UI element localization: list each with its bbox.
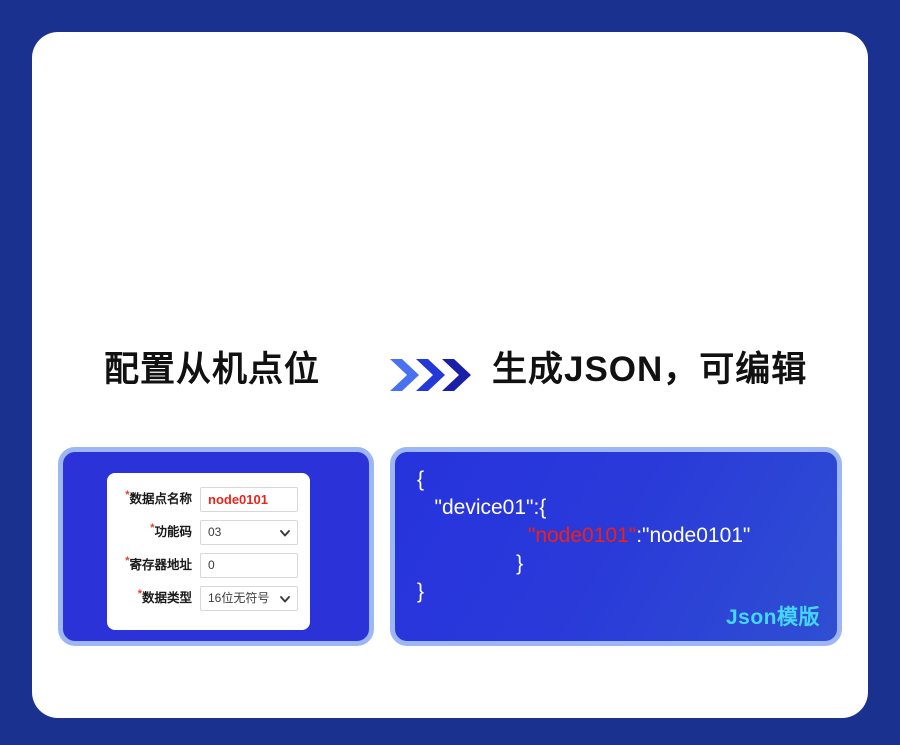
json-line-open-brace: { — [417, 466, 821, 494]
register-address-value: 0 — [208, 559, 215, 571]
headings-row: 配置从机点位 生成JSON，可编辑 — [0, 348, 900, 418]
json-node-key: "node0101" — [528, 524, 636, 547]
data-type-select[interactable]: 16位无符号 — [200, 586, 298, 611]
form-row: *功能码 03 — [116, 517, 298, 547]
register-address-label-text: 寄存器地址 — [129, 558, 192, 572]
form-row: *数据点名称 node0101 — [116, 484, 298, 514]
datapoint-name-input[interactable]: node0101 — [200, 487, 298, 512]
json-indent — [417, 524, 528, 547]
json-template-watermark: Json模版 — [726, 601, 820, 631]
register-address-label: *寄存器地址 — [116, 559, 200, 572]
function-code-value: 03 — [208, 526, 221, 538]
json-line-device-key: "device01":{ — [417, 494, 821, 522]
function-code-label: *功能码 — [116, 526, 200, 539]
json-template-panel: { "device01":{ "node0101":"node0101" }} … — [390, 447, 842, 646]
datapoint-name-value: node0101 — [208, 493, 268, 506]
datapoint-name-label: *数据点名称 — [116, 493, 200, 506]
left-section-title: 配置从机点位 — [104, 348, 320, 392]
json-line-inner-close: } — [417, 550, 821, 578]
function-code-label-text: 功能码 — [154, 525, 192, 539]
chevron-down-icon[interactable] — [279, 526, 291, 538]
chevron-down-icon[interactable] — [279, 592, 291, 604]
datapoint-form: *数据点名称 node0101 *功能码 03 *寄存器地址 0 — [107, 473, 310, 630]
slave-point-config-panel: *数据点名称 node0101 *功能码 03 *寄存器地址 0 — [58, 447, 374, 646]
right-section-title: 生成JSON，可编辑 — [492, 348, 807, 392]
data-type-label-text: 数据类型 — [142, 591, 192, 605]
function-code-select[interactable]: 03 — [200, 520, 298, 545]
register-address-input[interactable]: 0 — [200, 553, 298, 578]
triple-chevron-right-icon — [390, 358, 478, 392]
json-node-value: :"node0101" — [636, 524, 750, 547]
json-line-node-entry: "node0101":"node0101" — [417, 522, 821, 550]
data-type-label: *数据类型 — [116, 592, 200, 605]
data-type-value: 16位无符号 — [208, 592, 269, 604]
datapoint-name-label-text: 数据点名称 — [129, 492, 192, 506]
form-row: *数据类型 16位无符号 — [116, 583, 298, 613]
form-row: *寄存器地址 0 — [116, 550, 298, 580]
